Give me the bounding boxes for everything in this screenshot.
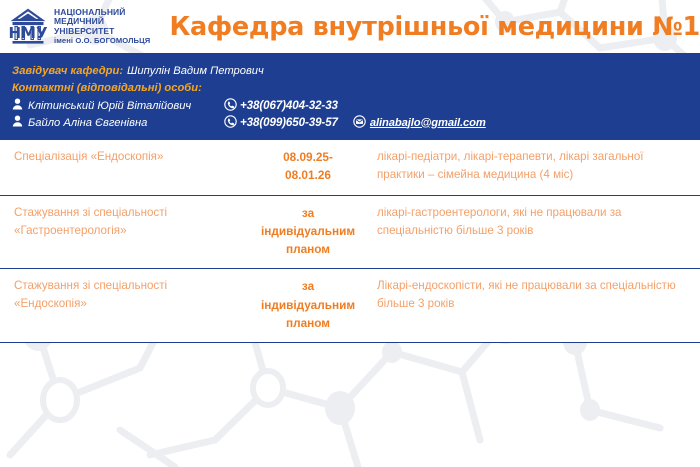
courses-table: Спеціалізація «Ендоскопія» 08.09.25- 08.…	[0, 139, 700, 343]
contact-row-2: Байло Аліна Євгенівна +38(099)650-39-57	[12, 114, 700, 131]
logo-line-2: МЕДИЧНИЙ УНІВЕРСИТЕТ	[54, 17, 161, 36]
course-date-line: 08.09.25-	[255, 148, 361, 166]
course-dates: 08.09.25- 08.01.26	[249, 140, 367, 196]
course-date-line: індивідуальним	[255, 222, 361, 240]
email-address: alinabajlo@gmail.com	[370, 117, 486, 129]
phone-number-1: +38(067)404-32-33	[240, 99, 338, 112]
contacts-title: Контактні (відповідальні) особи:	[12, 79, 700, 97]
course-audience: лікарі-гастроентерологи, які не працювал…	[367, 195, 700, 269]
envelope-icon	[353, 115, 366, 131]
contact-name-1: Клітинський Юрій Віталійович	[28, 100, 224, 112]
contact-info-band: Завідувач кафедри: Шипулін Вадим Петрови…	[0, 53, 700, 139]
contact-phone-2[interactable]: +38(099)650-39-57	[224, 115, 338, 131]
contact-name-2: Байло Аліна Євгенівна	[28, 117, 224, 129]
course-date-line: 08.01.26	[255, 166, 361, 184]
course-name: Стажування зі спеціальності «Ендоскопія»	[0, 269, 249, 343]
contact-phone-1[interactable]: +38(067)404-32-33	[224, 98, 338, 114]
course-name: Стажування зі спеціальності «Гастроентер…	[0, 195, 249, 269]
department-head-name: Шипулін Вадим Петрович	[127, 65, 264, 77]
table-row: Стажування зі спеціальності «Ендоскопія»…	[0, 269, 700, 343]
university-building-logo-icon: НМУ	[8, 6, 48, 48]
course-name: Спеціалізація «Ендоскопія»	[0, 140, 249, 196]
poster-page: НМУ НАЦІОНАЛЬНИЙ МЕДИЧНИЙ УНІВЕРСИТЕТ ім…	[0, 0, 700, 467]
contact-row-1: Клітинський Юрій Віталійович +38(067)404…	[12, 97, 700, 114]
course-date-line: планом	[255, 314, 361, 332]
phone-icon	[224, 115, 237, 131]
university-name: НАЦІОНАЛЬНИЙ МЕДИЧНИЙ УНІВЕРСИТЕТ імені …	[54, 8, 161, 45]
logo-line-3: імені О.О. БОГОМОЛЬЦЯ	[54, 37, 161, 46]
course-dates: за індивідуальним планом	[249, 269, 367, 343]
phone-number-2: +38(099)650-39-57	[240, 116, 338, 129]
table-row: Стажування зі спеціальності «Гастроентер…	[0, 195, 700, 269]
table-row: Спеціалізація «Ендоскопія» 08.09.25- 08.…	[0, 140, 700, 196]
course-date-line: за	[255, 204, 361, 222]
course-date-line: планом	[255, 240, 361, 258]
department-head-row: Завідувач кафедри: Шипулін Вадим Петрови…	[12, 62, 700, 79]
person-icon	[12, 115, 23, 130]
course-audience: Лікарі-ендоскопісти, які не працювали за…	[367, 269, 700, 343]
page-header: НМУ НАЦІОНАЛЬНИЙ МЕДИЧНИЙ УНІВЕРСИТЕТ ім…	[0, 0, 700, 53]
phone-icon	[224, 98, 237, 114]
course-dates: за індивідуальним планом	[249, 195, 367, 269]
university-logo: НМУ НАЦІОНАЛЬНИЙ МЕДИЧНИЙ УНІВЕРСИТЕТ ім…	[8, 6, 161, 48]
page-title: Кафедра внутрішньої медицини №1	[169, 12, 700, 42]
department-head-label: Завідувач кафедри:	[12, 65, 123, 77]
svg-text:НМУ: НМУ	[8, 24, 47, 42]
course-date-line: за	[255, 277, 361, 295]
course-audience: лікарі-педіатри, лікарі-терапевти, лікар…	[367, 140, 700, 196]
course-date-line: індивідуальним	[255, 296, 361, 314]
person-icon	[12, 98, 23, 113]
contact-email[interactable]: alinabajlo@gmail.com	[353, 115, 486, 131]
